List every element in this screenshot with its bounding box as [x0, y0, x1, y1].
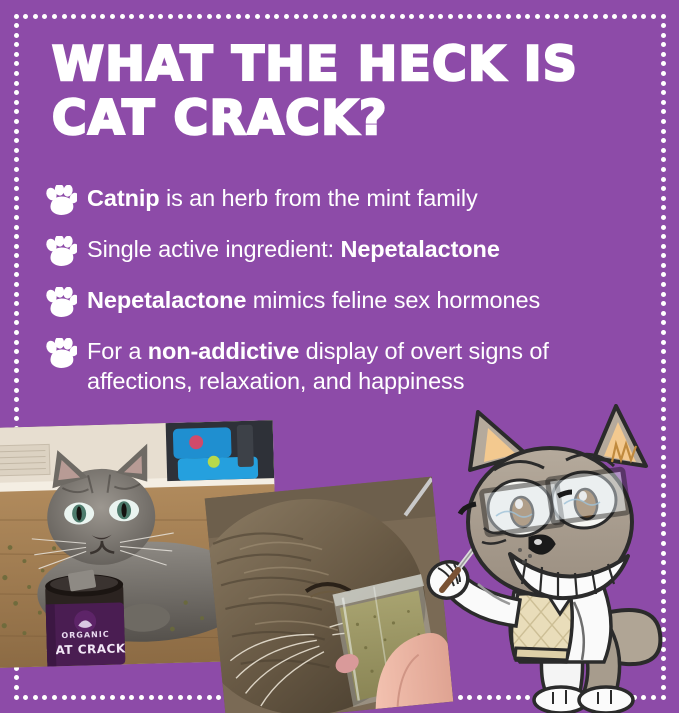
border-dot — [14, 397, 19, 402]
border-dot — [661, 81, 666, 86]
border-dot — [14, 157, 19, 162]
list-item-text: Single active ingredient: Nepetalactone — [87, 233, 500, 264]
border-dot — [14, 253, 19, 258]
border-dot — [661, 196, 666, 201]
border-dot — [487, 14, 492, 19]
border-dot — [52, 695, 57, 700]
border-dot — [255, 14, 260, 19]
border-dot — [661, 52, 666, 57]
border-dot — [14, 244, 19, 249]
border-dot — [197, 14, 202, 19]
border-dot — [33, 14, 38, 19]
border-dot — [14, 416, 19, 421]
border-dot — [129, 695, 134, 700]
border-dot — [14, 263, 19, 268]
border-dot — [274, 14, 279, 19]
list-item-regular: is an herb from the mint family — [160, 185, 478, 211]
border-dot — [583, 14, 588, 19]
border-dot — [120, 14, 125, 19]
border-dot — [158, 14, 163, 19]
border-dot — [661, 33, 666, 38]
border-dot — [14, 340, 19, 345]
border-dot — [564, 14, 569, 19]
border-dot — [661, 263, 666, 268]
border-dot — [661, 42, 666, 47]
border-dot — [81, 695, 86, 700]
photo-1-caption: Gray tabby cat lying on hardwood floor b… — [0, 0, 1, 1]
border-dot — [14, 685, 19, 690]
border-dot — [14, 61, 19, 66]
border-dot — [14, 81, 19, 86]
border-dot — [593, 14, 598, 19]
border-dot — [207, 14, 212, 19]
border-dot — [226, 14, 231, 19]
border-dot — [661, 330, 666, 335]
border-dot — [14, 109, 19, 114]
border-dot — [14, 407, 19, 412]
border-dot — [149, 14, 154, 19]
border-dot — [14, 675, 19, 680]
border-dot — [14, 148, 19, 153]
border-dot — [14, 33, 19, 38]
border-dot — [390, 14, 395, 19]
border-dot — [661, 320, 666, 325]
border-dot — [313, 14, 318, 19]
border-dot — [14, 320, 19, 325]
border-dot — [661, 138, 666, 143]
border-dot — [661, 349, 666, 354]
border-dot — [216, 14, 221, 19]
border-dot — [14, 368, 19, 373]
border-dot — [110, 14, 115, 19]
border-dot — [661, 157, 666, 162]
border-dot — [323, 14, 328, 19]
border-dot — [516, 14, 521, 19]
border-dot — [661, 234, 666, 239]
border-dot — [91, 695, 96, 700]
list-item: For a non-addictive display of overt sig… — [44, 335, 644, 396]
border-dot — [14, 359, 19, 364]
list-item-bold: non-addictive — [148, 338, 299, 364]
border-dot — [661, 340, 666, 345]
list-item-text: Nepetalactone mimics feline sex hormones — [87, 284, 540, 315]
border-dot — [661, 61, 666, 66]
border-dot — [139, 695, 144, 700]
border-dot — [661, 167, 666, 172]
list-item-bold: Nepetalactone — [87, 287, 246, 313]
border-dot — [14, 292, 19, 297]
border-dot — [14, 100, 19, 105]
border-dot — [661, 225, 666, 230]
border-dot — [467, 14, 472, 19]
border-dot — [661, 148, 666, 153]
border-dot — [294, 14, 299, 19]
border-dot — [661, 397, 666, 402]
border-dot — [245, 14, 250, 19]
page-title: WHAT THE HECK IS CAT CRACK? — [52, 38, 612, 146]
border-dot — [197, 695, 202, 700]
list-item: Catnip is an herb from the mint family — [44, 182, 644, 216]
border-dot — [400, 14, 405, 19]
border-dot — [332, 14, 337, 19]
border-dot — [371, 14, 376, 19]
border-dot — [661, 177, 666, 182]
border-dot — [14, 196, 19, 201]
border-dot — [52, 14, 57, 19]
border-dot — [458, 14, 463, 19]
list-item-regular: mimics feline sex hormones — [246, 287, 540, 313]
border-dot — [265, 14, 270, 19]
border-dot — [641, 14, 646, 19]
border-dot — [661, 244, 666, 249]
border-dot — [419, 14, 424, 19]
border-dot — [23, 695, 28, 700]
border-dot — [14, 129, 19, 134]
title-line-1: WHAT THE HECK IS — [52, 38, 612, 92]
paw-print-icon — [44, 185, 77, 216]
border-dot — [14, 205, 19, 210]
border-dot — [14, 119, 19, 124]
border-dot — [71, 695, 76, 700]
mascot-description: Cartoon tabby cat professor wearing blac… — [0, 0, 1, 1]
border-dot — [91, 14, 96, 19]
border-dot — [661, 129, 666, 134]
list-item: Single active ingredient: Nepetalactone — [44, 233, 644, 267]
border-dot — [661, 14, 666, 19]
border-dot — [632, 14, 637, 19]
border-dot — [139, 14, 144, 19]
border-dot — [506, 14, 511, 19]
border-dot — [661, 311, 666, 316]
border-dot — [42, 695, 47, 700]
border-dot — [14, 378, 19, 383]
border-dot — [149, 695, 154, 700]
border-dot — [554, 14, 559, 19]
border-dot — [303, 14, 308, 19]
border-dot — [661, 186, 666, 191]
border-dot — [661, 23, 666, 28]
border-dot — [14, 138, 19, 143]
border-dot — [129, 14, 134, 19]
border-dot — [14, 272, 19, 277]
border-dot — [14, 301, 19, 306]
list-item-bold: Catnip — [87, 185, 160, 211]
professor-cat-mascot — [398, 404, 679, 713]
border-dot — [110, 695, 115, 700]
border-dot — [535, 14, 540, 19]
paw-print-icon — [44, 236, 77, 267]
border-dot — [23, 14, 28, 19]
border-dot — [100, 14, 105, 19]
border-dot — [496, 14, 501, 19]
border-dot — [380, 14, 385, 19]
border-dot — [661, 71, 666, 76]
border-dot — [14, 42, 19, 47]
border-dot — [661, 100, 666, 105]
border-dot — [14, 167, 19, 172]
border-dot — [178, 14, 183, 19]
border-dot — [612, 14, 617, 19]
border-dot — [661, 119, 666, 124]
border-dot — [216, 695, 221, 700]
border-dot — [158, 695, 163, 700]
catnip-jar: ORGANIC CAT CRACK — [44, 569, 126, 667]
list-item-regular: For a — [87, 338, 148, 364]
fact-list: Catnip is an herb from the mint family S… — [44, 182, 644, 413]
border-dot — [661, 368, 666, 373]
border-dot — [14, 71, 19, 76]
border-dot — [545, 14, 550, 19]
border-dot — [661, 359, 666, 364]
border-dot — [14, 349, 19, 354]
border-dot — [661, 282, 666, 287]
border-dot — [187, 695, 192, 700]
list-item-regular: Single active ingredient: — [87, 236, 340, 262]
border-dot — [71, 14, 76, 19]
border-dot — [14, 311, 19, 316]
border-dot — [661, 253, 666, 258]
border-dot — [661, 378, 666, 383]
border-dot — [651, 14, 656, 19]
border-dot — [236, 14, 241, 19]
border-dot — [661, 292, 666, 297]
border-dot — [603, 14, 608, 19]
border-dot — [14, 695, 19, 700]
border-dot — [351, 14, 356, 19]
border-dot — [207, 695, 212, 700]
catnip-infographic: ORGANIC CAT CRACK — [0, 0, 679, 713]
border-dot — [661, 205, 666, 210]
border-dot — [622, 14, 627, 19]
border-dot — [81, 14, 86, 19]
photo-2-caption: Brown tabby cat pushing its face into a … — [0, 0, 1, 1]
border-dot — [14, 186, 19, 191]
border-dot — [661, 215, 666, 220]
border-dot — [14, 23, 19, 28]
border-dot — [14, 388, 19, 393]
border-dot — [100, 695, 105, 700]
border-dot — [14, 330, 19, 335]
border-dot — [284, 14, 289, 19]
border-dot — [187, 14, 192, 19]
svg-text:CAT CRACK: CAT CRACK — [46, 641, 126, 657]
border-dot — [409, 14, 414, 19]
border-dot — [33, 695, 38, 700]
border-dot — [14, 177, 19, 182]
border-dot — [120, 695, 125, 700]
border-dot — [361, 14, 366, 19]
border-dot — [168, 14, 173, 19]
border-dot — [178, 695, 183, 700]
paw-print-icon — [44, 338, 77, 369]
list-item-text: Catnip is an herb from the mint family — [87, 182, 478, 213]
border-dot — [525, 14, 530, 19]
border-dot — [477, 14, 482, 19]
title-line-2: CAT CRACK? — [52, 92, 612, 146]
border-dot — [429, 14, 434, 19]
border-dot — [14, 14, 19, 19]
border-dot — [438, 14, 443, 19]
border-dot — [168, 695, 173, 700]
border-dot — [661, 388, 666, 393]
border-dot — [14, 215, 19, 220]
border-dot — [661, 272, 666, 277]
border-dot — [42, 14, 47, 19]
border-dot — [448, 14, 453, 19]
border-dot — [62, 695, 67, 700]
border-dot — [14, 282, 19, 287]
border-dot — [574, 14, 579, 19]
border-dot — [661, 90, 666, 95]
border-dot — [661, 301, 666, 306]
border-dot — [14, 225, 19, 230]
border-dot — [62, 14, 67, 19]
list-item: Nepetalactone mimics feline sex hormones — [44, 284, 644, 318]
border-dot — [342, 14, 347, 19]
border-dot — [661, 109, 666, 114]
border-dot — [14, 52, 19, 57]
list-item-bold: Nepetalactone — [340, 236, 499, 262]
paw-print-icon — [44, 287, 77, 318]
border-dot — [14, 90, 19, 95]
list-item-text: For a non-addictive display of overt sig… — [87, 335, 644, 396]
border-dot — [14, 234, 19, 239]
